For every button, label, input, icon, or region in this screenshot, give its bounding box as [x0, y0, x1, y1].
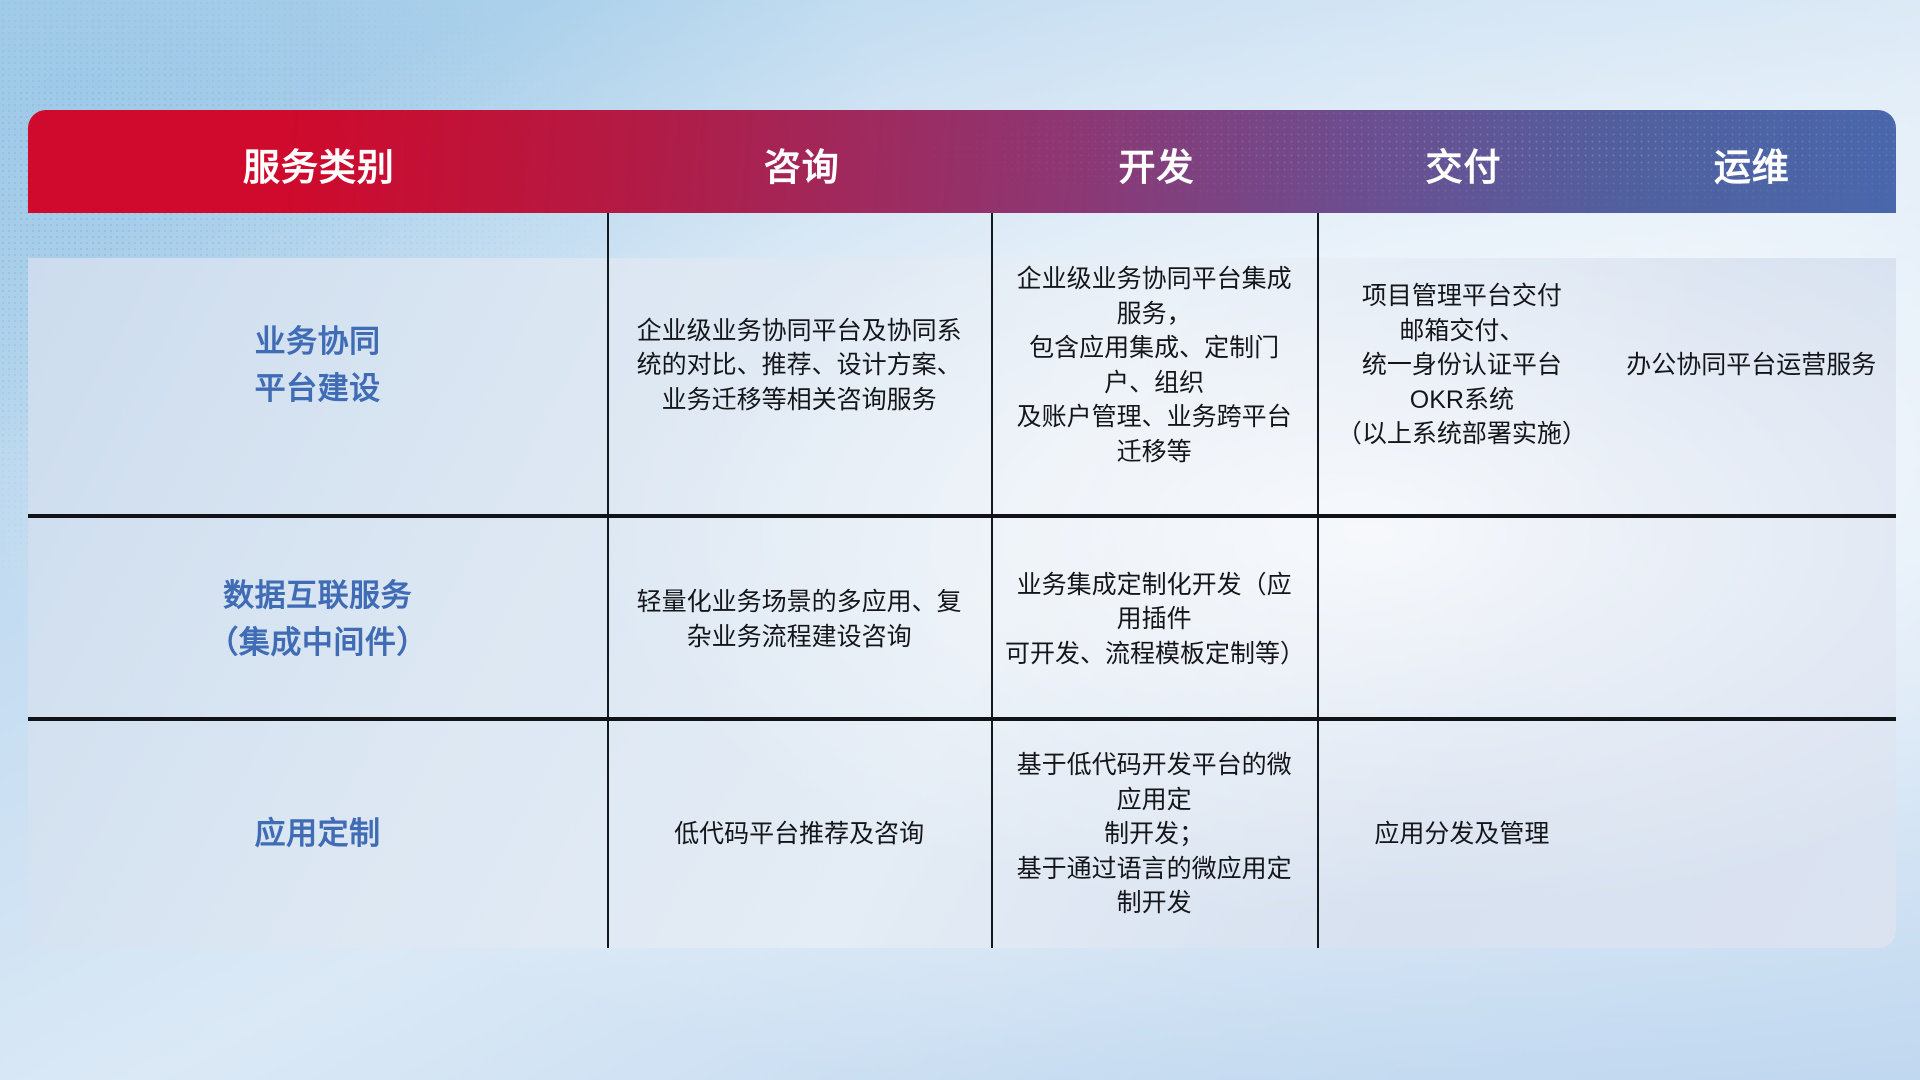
row-header-cell: 应用定制: [28, 721, 607, 948]
cell-development: 基于低代码开发平台的微应用定 制开发； 基于通过语言的微应用定制开发: [991, 721, 1317, 948]
cell-text: 应用分发及管理: [1374, 817, 1549, 852]
column-header-delivery: 交付: [1319, 137, 1607, 213]
cell-delivery: 项目管理平台交付 邮箱交付、 统一身份认证平台 OKR系统 （以上系统部署实施）: [1317, 213, 1606, 518]
table-row: 业务协同 平台建设 企业级业务协同平台及协同系 统的对比、推荐、设计方案、 业务…: [28, 213, 1896, 518]
cell-operations: [1607, 721, 1896, 948]
row-category-label: 应用定制: [255, 811, 381, 858]
cell-text: 企业级业务协同平台及协同系 统的对比、推荐、设计方案、 业务迁移等相关咨询服务: [637, 314, 962, 418]
cell-text: 低代码平台推荐及咨询: [674, 817, 924, 852]
table-header-row: 服务类别 咨询 开发 交付 运维: [28, 110, 1896, 213]
column-header-operations: 运维: [1608, 137, 1896, 213]
cell-development: 业务集成定制化开发（应用插件 可开发、流程模板定制等）: [991, 518, 1317, 721]
row-category-label: 业务协同 平台建设: [255, 319, 381, 412]
row-header-cell: 数据互联服务 （集成中间件）: [28, 518, 607, 721]
cell-text: 项目管理平台交付 邮箱交付、 统一身份认证平台 OKR系统 （以上系统部署实施）: [1337, 279, 1587, 452]
cell-text: 企业级业务协同平台集成服务， 包含应用集成、定制门户、组织 及账户管理、业务跨平…: [1005, 262, 1303, 469]
cell-consulting: 低代码平台推荐及咨询: [607, 721, 991, 948]
cell-operations: [1607, 518, 1896, 721]
cell-delivery: [1317, 518, 1606, 721]
row-header-cell: 业务协同 平台建设: [28, 213, 607, 518]
cell-text: 业务集成定制化开发（应用插件 可开发、流程模板定制等）: [1005, 568, 1303, 672]
table-row: 数据互联服务 （集成中间件） 轻量化业务场景的多应用、复 杂业务流程建设咨询 业…: [28, 518, 1896, 721]
table-row: 应用定制 低代码平台推荐及咨询 基于低代码开发平台的微应用定 制开发； 基于通过…: [28, 721, 1896, 948]
column-header-consulting: 咨询: [610, 137, 994, 213]
cell-delivery: 应用分发及管理: [1317, 721, 1606, 948]
row-category-label: 数据互联服务 （集成中间件）: [207, 573, 428, 666]
cell-development: 企业级业务协同平台集成服务， 包含应用集成、定制门户、组织 及账户管理、业务跨平…: [991, 213, 1317, 518]
cell-text: 轻量化业务场景的多应用、复 杂业务流程建设咨询: [637, 585, 962, 654]
cell-text: 办公协同平台运营服务: [1626, 348, 1876, 383]
cell-text: 基于低代码开发平台的微应用定 制开发； 基于通过语言的微应用定制开发: [1005, 748, 1303, 921]
cell-consulting: 企业级业务协同平台及协同系 统的对比、推荐、设计方案、 业务迁移等相关咨询服务: [607, 213, 991, 518]
cell-operations: 办公协同平台运营服务: [1607, 213, 1896, 518]
column-header-category: 服务类别: [28, 137, 610, 213]
services-matrix-table: 服务类别 咨询 开发 交付 运维 业务协同 平台建设 企业级业务协同平台及协同系…: [28, 110, 1896, 948]
cell-consulting: 轻量化业务场景的多应用、复 杂业务流程建设咨询: [607, 518, 991, 721]
column-header-development: 开发: [994, 137, 1320, 213]
table-body: 业务协同 平台建设 企业级业务协同平台及协同系 统的对比、推荐、设计方案、 业务…: [28, 213, 1896, 948]
